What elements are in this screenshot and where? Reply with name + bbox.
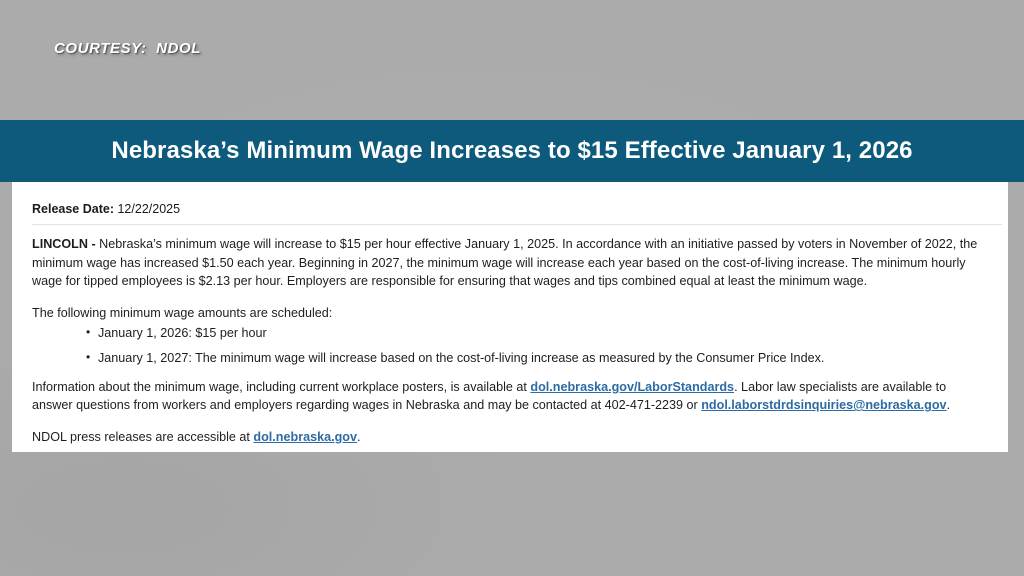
schedule-intro: The following minimum wage amounts are s…: [32, 304, 988, 323]
screenshot-root: COURTESY: NDOL Nebraska’s Minimum Wage I…: [0, 0, 1024, 576]
labor-standards-link[interactable]: dol.nebraska.gov/LaborStandards: [530, 380, 734, 394]
press-releases-intro: NDOL press releases are accessible at: [32, 430, 253, 444]
press-releases-end: .: [357, 430, 361, 444]
dol-nebraska-link[interactable]: dol.nebraska.gov: [253, 430, 357, 444]
info-paragraph-intro: Information about the minimum wage, incl…: [32, 380, 530, 394]
info-paragraph: Information about the minimum wage, incl…: [32, 378, 988, 415]
list-item: January 1, 2027: The minimum wage will i…: [86, 349, 988, 368]
list-item: January 1, 2026: $15 per hour: [86, 324, 988, 343]
lead-paragraph: LINCOLN - Nebraska’s minimum wage will i…: [32, 235, 988, 291]
labor-standards-email-link[interactable]: ndol.laborstdrdsinquiries@nebraska.gov: [701, 398, 946, 412]
press-releases-paragraph: NDOL press releases are accessible at do…: [32, 428, 988, 447]
press-release-panel: Release Date: 12/22/2025 LINCOLN - Nebra…: [12, 182, 1008, 452]
release-date-line: Release Date: 12/22/2025: [32, 202, 988, 224]
header-divider: [32, 224, 1002, 225]
dateline: LINCOLN -: [32, 237, 96, 251]
title-banner: Nebraska’s Minimum Wage Increases to $15…: [0, 120, 1024, 182]
lead-paragraph-text: Nebraska’s minimum wage will increase to…: [32, 237, 977, 288]
courtesy-credit: COURTESY: NDOL: [54, 40, 201, 57]
page-title: Nebraska’s Minimum Wage Increases to $15…: [111, 138, 912, 164]
release-date-label: Release Date:: [32, 202, 114, 216]
wage-schedule-list: January 1, 2026: $15 per hour January 1,…: [32, 324, 988, 367]
release-date-value: 12/22/2025: [117, 202, 180, 216]
info-paragraph-end: .: [947, 398, 951, 412]
